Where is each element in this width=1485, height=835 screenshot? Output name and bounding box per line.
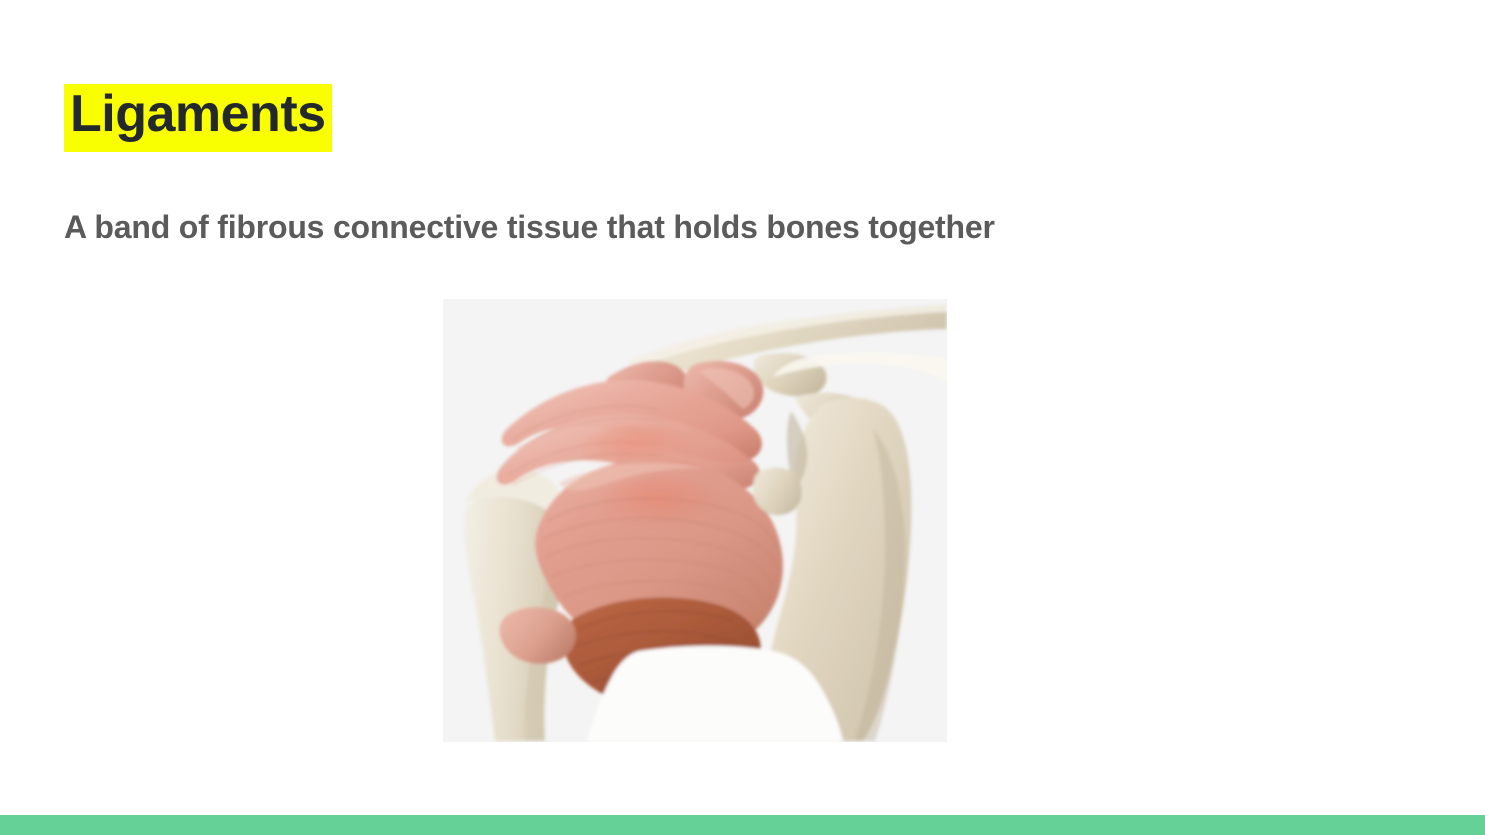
subtitle-definition: A band of fibrous connective tissue that… (64, 208, 995, 246)
footer-accent-bar (0, 815, 1485, 835)
shoulder-joint-illustration (443, 299, 947, 742)
figure-overlay (443, 299, 947, 742)
page-title: Ligaments (64, 84, 332, 152)
page-title-text: Ligaments (64, 84, 332, 152)
shoulder-joint-figure (443, 299, 947, 742)
slide-canvas: Ligaments A band of fibrous connective t… (0, 0, 1485, 835)
